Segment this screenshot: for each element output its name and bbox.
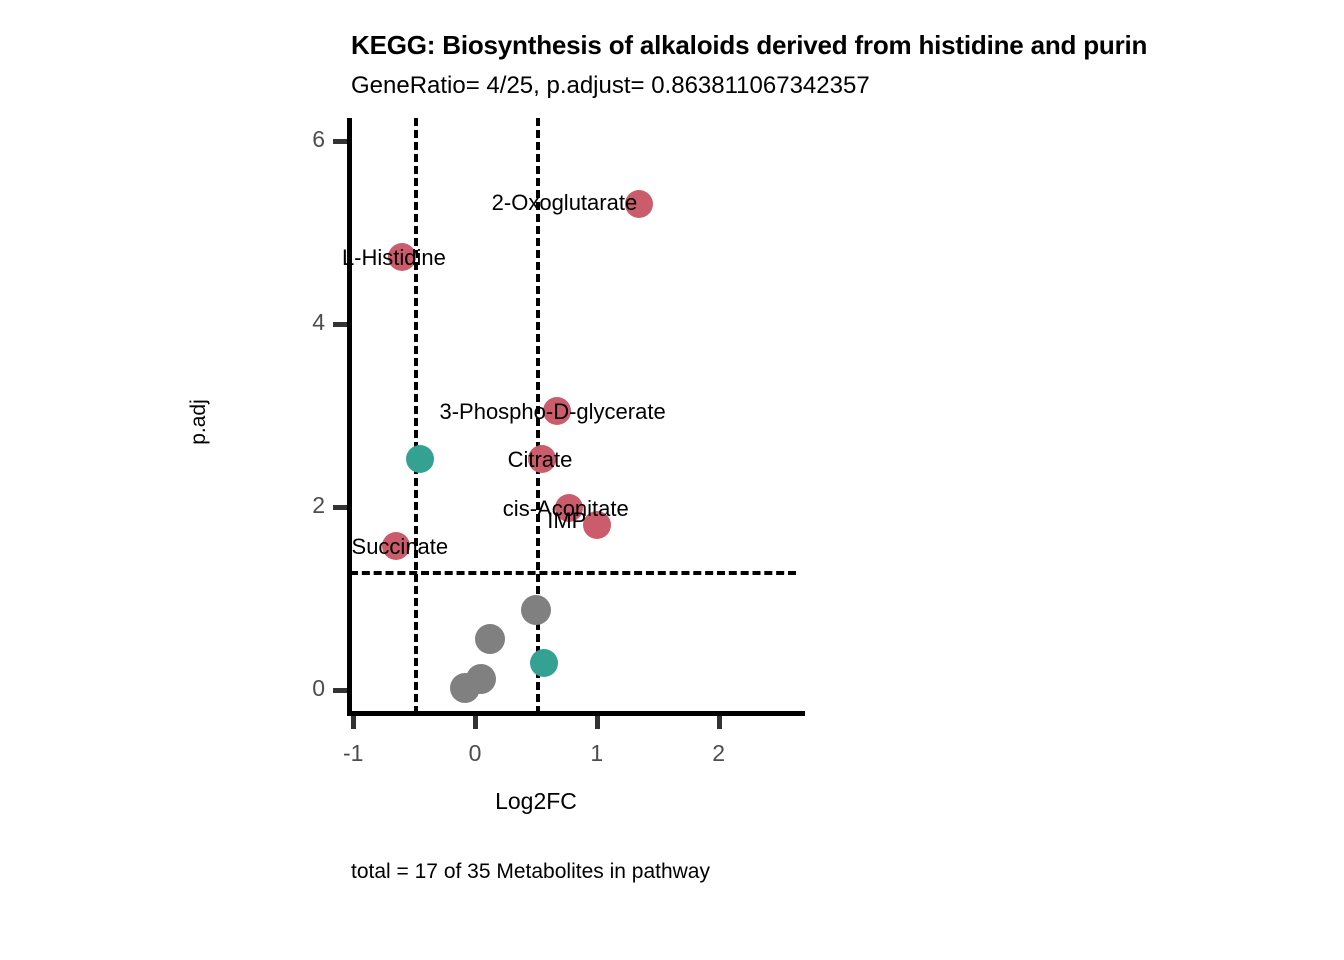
data-point-label: 3-Phospho-D-glycerate <box>439 399 665 425</box>
plot-caption: total = 17 of 35 Metabolites in pathway <box>351 860 710 884</box>
data-point-label: 2-Oxoglutarate <box>492 190 638 216</box>
padj-threshold-line <box>350 571 796 575</box>
y-axis-line <box>347 118 352 716</box>
plot-subtitle: GeneRatio= 4/25, p.adjust= 0.86381106734… <box>351 72 1344 100</box>
y-tick-mark <box>333 688 347 693</box>
x-tick-label: 1 <box>567 740 627 767</box>
y-tick-label: 6 <box>265 126 325 153</box>
page-title: KEGG: Biosynthesis of alkaloids derived … <box>351 30 1344 60</box>
data-point-label: Citrate <box>508 447 573 473</box>
y-tick-mark <box>333 505 347 510</box>
x-tick-mark <box>473 716 478 729</box>
y-axis-title: p.adj <box>187 399 211 445</box>
x-tick-mark <box>717 716 722 729</box>
x-axis-title-text: Log2FC <box>495 788 577 815</box>
x-tick-label: 2 <box>689 740 749 767</box>
y-tick-label: 0 <box>265 675 325 702</box>
volcano-plot-canvas: KEGG: Biosynthesis of alkaloids derived … <box>0 0 1344 960</box>
data-point-label: Succinate <box>352 534 449 560</box>
data-point[interactable] <box>406 445 434 473</box>
y-tick-label: 2 <box>265 492 325 519</box>
y-tick-mark <box>333 322 347 327</box>
y-tick-mark <box>333 139 347 144</box>
data-point[interactable] <box>530 649 558 677</box>
x-tick-label: 0 <box>445 740 505 767</box>
data-point[interactable] <box>450 673 480 703</box>
x-tick-mark <box>595 716 600 729</box>
log2fc-threshold-line <box>414 118 418 714</box>
data-point-label: IMP <box>547 508 586 534</box>
x-tick-mark <box>351 716 356 729</box>
data-point[interactable] <box>521 595 551 625</box>
x-tick-label: -1 <box>323 740 383 767</box>
data-point-label: L-Histidine <box>342 245 446 271</box>
data-point[interactable] <box>475 624 505 654</box>
y-tick-label: 4 <box>265 309 325 336</box>
